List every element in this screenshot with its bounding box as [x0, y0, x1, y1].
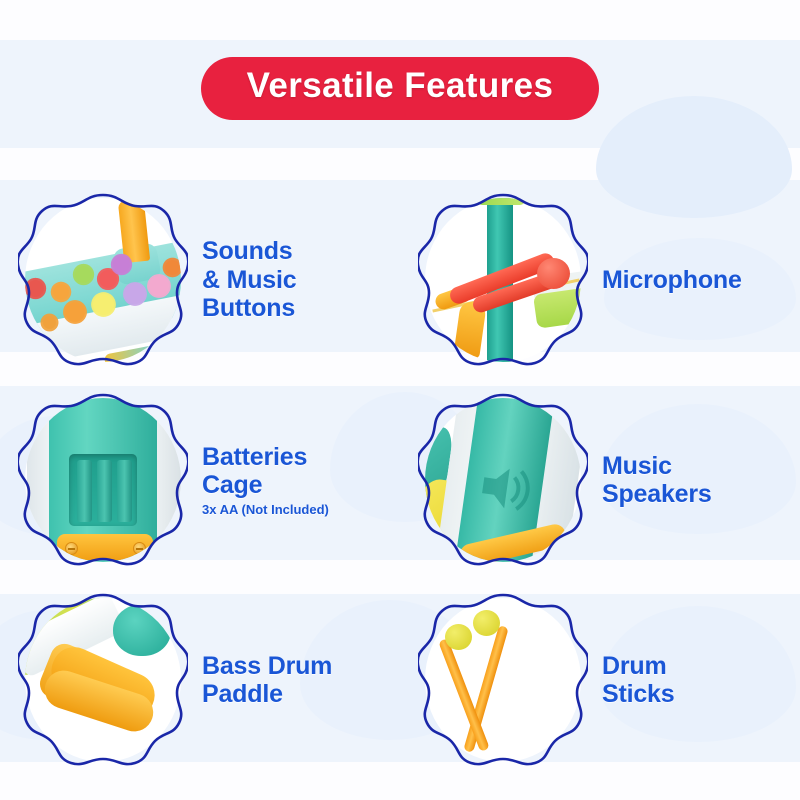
- label-line-3: Buttons: [202, 294, 295, 322]
- feature-item-batteries-cage[interactable]: Batteries Cage 3x AA (Not Included): [0, 380, 390, 580]
- feature-label-batteries-cage: Batteries Cage 3x AA (Not Included): [202, 443, 329, 518]
- feature-item-drum-sticks[interactable]: Drum Sticks: [410, 580, 800, 780]
- page-header: Versatile Features: [0, 57, 800, 120]
- feature-label-drum-sticks: Drum Sticks: [602, 652, 674, 709]
- feature-label-sounds-music-buttons: Sounds & Music Buttons: [202, 237, 296, 323]
- artwork-microphone: [425, 198, 581, 362]
- feature-photo-sounds-music-buttons: [18, 191, 188, 369]
- feature-photo-batteries-cage: [18, 391, 188, 569]
- background-band: [0, 0, 800, 40]
- feature-item-bass-drum-paddle[interactable]: Bass Drum Paddle: [0, 580, 390, 780]
- label-line-1: Sounds: [202, 237, 292, 265]
- feature-grid: Sounds & Music Buttons: [0, 180, 800, 790]
- feature-label-microphone: Microphone: [602, 266, 742, 295]
- photo-content: [25, 198, 181, 362]
- label-line-1: Bass Drum: [202, 652, 332, 680]
- photo-content: [25, 398, 181, 562]
- label-line-1: Music: [602, 452, 672, 480]
- feature-photo-microphone: [418, 191, 588, 369]
- photo-content: [425, 198, 581, 362]
- feature-sublabel-batteries: 3x AA (Not Included): [202, 503, 329, 518]
- speaker-wave-icon: [469, 456, 536, 520]
- label-line-2: Cage: [202, 471, 262, 499]
- artwork-speaker: [425, 398, 581, 562]
- label-line-2: & Music: [202, 266, 296, 294]
- label-line-1: Batteries: [202, 443, 307, 471]
- feature-photo-music-speakers: [418, 391, 588, 569]
- label-line-2: Sticks: [602, 680, 674, 708]
- label-line-1: Drum: [602, 652, 666, 680]
- label-line-2: Speakers: [602, 480, 712, 508]
- feature-label-bass-drum-paddle: Bass Drum Paddle: [202, 652, 332, 709]
- photo-content: [425, 598, 581, 762]
- feature-photo-drum-sticks: [418, 591, 588, 769]
- artwork-battery-cage: [25, 398, 181, 562]
- artwork-drum-sticks: [425, 598, 581, 762]
- artwork-bass-drum-paddle: [25, 598, 181, 762]
- feature-item-music-speakers[interactable]: Music Speakers: [410, 380, 800, 580]
- label-line-2: Paddle: [202, 680, 283, 708]
- page-title: Versatile Features: [201, 57, 600, 120]
- feature-item-sounds-music-buttons[interactable]: Sounds & Music Buttons: [0, 180, 390, 380]
- photo-content: [425, 398, 581, 562]
- label-line-1: Microphone: [602, 266, 742, 294]
- photo-content: [25, 598, 181, 762]
- feature-photo-bass-drum-paddle: [18, 591, 188, 769]
- feature-item-microphone[interactable]: Microphone: [410, 180, 800, 380]
- artwork-sound-buttons: [25, 198, 181, 362]
- feature-label-music-speakers: Music Speakers: [602, 452, 712, 509]
